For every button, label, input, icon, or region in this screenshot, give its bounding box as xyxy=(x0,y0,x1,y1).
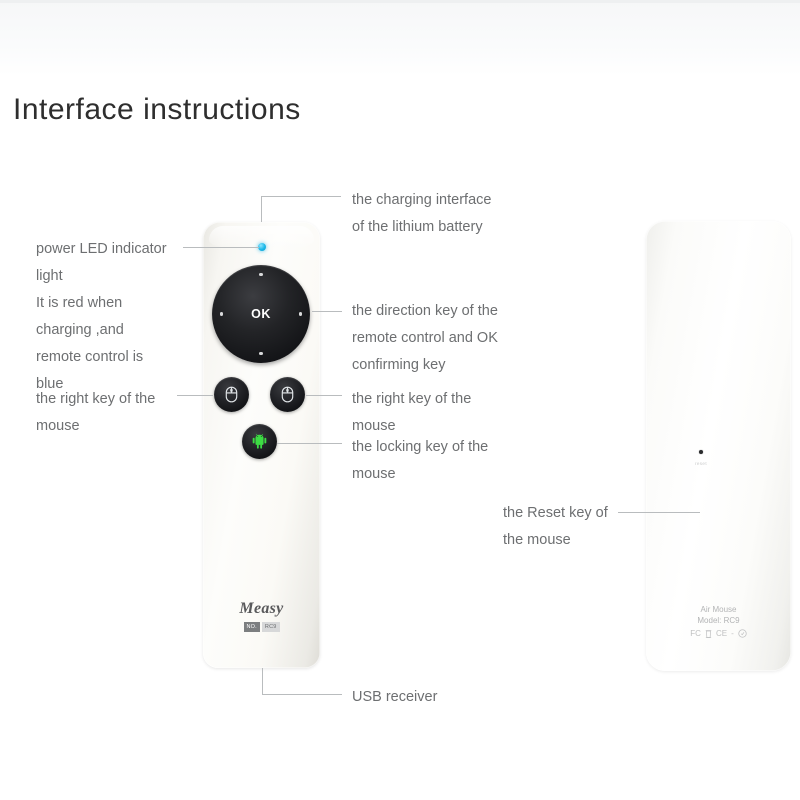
brand-badge-no: NO. xyxy=(244,622,260,632)
annotation-reset-key: the Reset key of the mouse xyxy=(503,500,663,554)
brand-badge-model: RC9 xyxy=(262,622,280,632)
top-banner-strip xyxy=(0,0,800,76)
fcc-mark: FC xyxy=(690,629,701,638)
locking-key-button[interactable] xyxy=(242,424,277,459)
model-number-label: Model: RC9 xyxy=(646,615,791,626)
annotation-direction-key: the direction key of the remote control … xyxy=(352,298,582,379)
dpad-down-dot[interactable] xyxy=(259,352,262,355)
leader-line-dpad xyxy=(312,311,342,312)
instruction-page: Interface instructions Measy NO. RC9 OK xyxy=(0,0,800,800)
dpad-up-dot[interactable] xyxy=(259,273,262,276)
brand-block: Measy NO. RC9 xyxy=(203,600,320,632)
ok-button-label[interactable]: OK xyxy=(212,307,310,321)
page-title: Interface instructions xyxy=(13,95,301,125)
leader-line-right-mouse xyxy=(306,395,342,396)
weee-bin-icon xyxy=(705,629,712,638)
annotation-right-mouse-key: the right key of the mouse xyxy=(352,386,552,440)
mouse-icon xyxy=(281,386,294,403)
brand-name: Measy xyxy=(203,600,320,618)
leader-line-charging-horizontal xyxy=(261,196,341,197)
brand-badges: NO. RC9 xyxy=(203,622,320,632)
ctick-mark xyxy=(738,629,747,638)
backside-label-block: Air Mouse Model: RC9 FC CE - xyxy=(646,604,791,638)
reset-hole-label: reset xyxy=(681,461,721,466)
annotation-charging-interface: the charging interface of the lithium ba… xyxy=(352,187,582,241)
leader-line-charging-vertical xyxy=(261,196,262,222)
leader-line-usb-vertical xyxy=(262,668,263,695)
annotation-usb-receiver: USB receiver xyxy=(352,684,532,711)
dash-mark: - xyxy=(731,629,734,638)
product-name-label: Air Mouse xyxy=(646,604,791,615)
right-mouse-key-button[interactable] xyxy=(270,377,305,412)
ce-mark: CE xyxy=(716,629,727,638)
annotation-power-led: power LED indicator light It is red when… xyxy=(36,236,196,398)
leader-line-usb-horizontal xyxy=(262,694,342,695)
leader-line-locking xyxy=(277,443,342,444)
android-robot-icon xyxy=(251,433,268,451)
annotation-locking-key: the locking key of the mouse xyxy=(352,434,552,488)
power-led-indicator xyxy=(258,243,266,251)
dpad-button[interactable]: OK xyxy=(212,265,310,363)
certification-marks: FC CE - xyxy=(646,629,791,638)
mouse-icon xyxy=(225,386,238,403)
annotation-left-mouse-key: the right key of the mouse xyxy=(36,386,226,440)
